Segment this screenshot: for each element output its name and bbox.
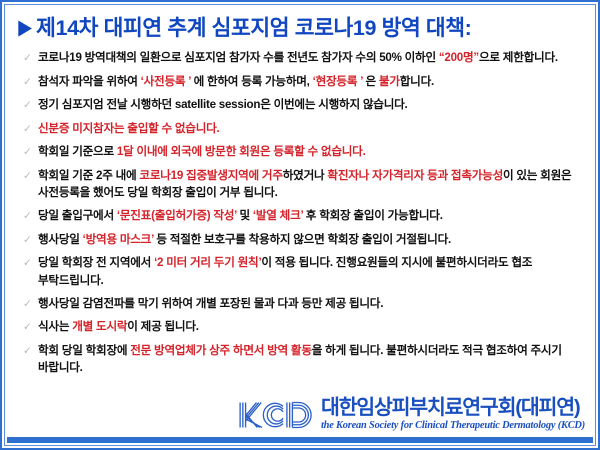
list-item-text: 행사당일 감염전파를 막기 위하여 개별 포장된 물과 다과 등만 제공 됩니다… (38, 295, 583, 313)
list-item-text: 코로나19 방역대책의 일환으로 심포지엄 참가자 수를 전년도 참가자 수의 … (38, 49, 583, 67)
body-text: 및 (237, 209, 253, 222)
check-bullet-icon: ✓ (23, 295, 38, 313)
list-item: ✓식사는 개별 도시락이 제공 됩니다. (23, 318, 583, 336)
body-text: 학회일 기준으로 (38, 145, 117, 158)
body-text: 하였거나 (283, 169, 328, 182)
list-item-text: 당일 학회장 전 지역에서 ‘2 미터 거리 두기 원칙’이 적용 됩니다. 진… (38, 254, 583, 289)
highlighted-text: ‘문진표(출입허가증) 작성’ (117, 209, 237, 222)
check-bullet-icon: ✓ (23, 96, 38, 114)
highlighted-text: 코로나19 집중발생지역에 거주 (139, 169, 282, 182)
list-item-text: 행사당일 ‘방역용 마스크’ 등 적절한 보호구를 착용하지 않으면 학회장 출… (38, 231, 583, 249)
covid-measures-list: ✓코로나19 방역대책의 일환으로 심포지엄 참가자 수를 전년도 참가자 수의… (13, 49, 587, 377)
list-item-text: 신분증 미지참자는 출입할 수 없습니다. (38, 120, 583, 138)
highlighted-text: “200명” (439, 51, 479, 64)
highlighted-text: 전문 방역업체가 상주 하면서 방역 활동 (130, 344, 312, 357)
body-text: 학회일 기준 2주 내에 (38, 169, 139, 182)
highlighted-text: 불가 (379, 75, 400, 88)
highlighted-text: 1달 이내에 외국에 방문한 회원은 등록할 수 없습니다. (117, 145, 366, 158)
body-text: 당일 출입구에서 (38, 209, 117, 222)
body-text: 은 (363, 75, 379, 88)
body-text: 후 학회장 출입이 가능합니다. (303, 209, 443, 222)
highlighted-text: ‘사전등록 ’ (141, 75, 191, 88)
kcd-logo-icon (237, 400, 315, 430)
check-bullet-icon: ✓ (23, 73, 38, 91)
triangle-bullet-icon: ▶ (18, 15, 32, 41)
body-text: 식사는 (38, 320, 72, 333)
slide-title: ▶ 제14차 대피연 추계 심포지엄 코로나19 방역 대책: (13, 11, 587, 43)
check-bullet-icon: ✓ (23, 120, 38, 138)
slide-content-area: ▶ 제14차 대피연 추계 심포지엄 코로나19 방역 대책: ✓코로나19 방… (4, 4, 596, 446)
list-item: ✓학회일 기준 2주 내에 코로나19 집중발생지역에 거주하였거나 확진자나 … (23, 167, 583, 202)
body-text: 당일 학회장 전 지역에서 (38, 256, 154, 269)
body-text: 에 한하여 등록 가능하며, (191, 75, 313, 88)
highlighted-text: ‘2 미터 거리 두기 원칙’ (154, 256, 261, 269)
frame-bottom-bar (7, 437, 593, 443)
body-text: 행사당일 감염전파를 막기 위하여 개별 포장된 물과 다과 등만 제공 됩니다… (38, 297, 383, 310)
body-text: 이 제공 됩니다. (127, 320, 198, 333)
check-bullet-icon: ✓ (23, 207, 38, 225)
slide-frame: ▶ 제14차 대피연 추계 심포지엄 코로나19 방역 대책: ✓코로나19 방… (0, 0, 600, 450)
check-bullet-icon: ✓ (23, 318, 38, 336)
list-item-text: 당일 출입구에서 ‘문진표(출입허가증) 작성’ 및 ‘발열 체크’ 후 학회장… (38, 207, 583, 225)
check-bullet-icon: ✓ (23, 342, 38, 360)
list-item-text: 학회일 기준 2주 내에 코로나19 집중발생지역에 거주하였거나 확진자나 자… (38, 167, 583, 202)
highlighted-text: ‘현장등록 ’ (313, 75, 363, 88)
body-text: 등 적절한 보호구를 착용하지 않으면 학회장 출입이 거절됩니다. (154, 233, 451, 246)
society-name-english: the Korean Society for Clinical Therapeu… (321, 421, 585, 431)
list-item: ✓당일 학회장 전 지역에서 ‘2 미터 거리 두기 원칙’이 적용 됩니다. … (23, 254, 583, 289)
body-text: 행사당일 (38, 233, 83, 246)
highlighted-text: 신분증 미지참자는 출입할 수 없습니다. (38, 122, 220, 135)
list-item: ✓당일 출입구에서 ‘문진표(출입허가증) 작성’ 및 ‘발열 체크’ 후 학회… (23, 207, 583, 225)
slide-title-text: 제14차 대피연 추계 심포지엄 코로나19 방역 대책: (36, 15, 471, 41)
body-text: 합니다. (400, 75, 434, 88)
society-logo-lockup: 대한임상피부치료연구회(대피연) the Korean Society for … (237, 398, 585, 431)
highlighted-text: ‘발열 체크’ (253, 209, 303, 222)
list-item-text: 정기 심포지엄 전날 시행하던 satellite session은 이번에는 … (38, 96, 583, 114)
society-name-block: 대한임상피부치료연구회(대피연) the Korean Society for … (321, 398, 585, 431)
check-bullet-icon: ✓ (23, 49, 38, 67)
list-item: ✓코로나19 방역대책의 일환으로 심포지엄 참가자 수를 전년도 참가자 수의… (23, 49, 583, 67)
body-text: 코로나19 방역대책의 일환으로 심포지엄 참가자 수를 전년도 참가자 수의 … (38, 51, 439, 64)
body-text: 정기 심포지엄 전날 시행하던 satellite session은 이번에는 … (38, 98, 408, 111)
list-item-text: 학회일 기준으로 1달 이내에 외국에 방문한 회원은 등록할 수 없습니다. (38, 143, 583, 161)
list-item: ✓행사당일 ‘방역용 마스크’ 등 적절한 보호구를 착용하지 않으면 학회장 … (23, 231, 583, 249)
highlighted-text: 개별 도시락 (72, 320, 127, 333)
check-bullet-icon: ✓ (23, 254, 38, 272)
society-name-korean: 대한임상피부치료연구회(대피연) (321, 398, 580, 419)
list-item: ✓신분증 미지참자는 출입할 수 없습니다. (23, 120, 583, 138)
list-item: ✓참석자 파악을 위하여 ‘사전등록 ’ 에 한하여 등록 가능하며, ‘현장등… (23, 73, 583, 91)
body-text: 학회 당일 학회장에 (38, 344, 130, 357)
list-item: ✓학회일 기준으로 1달 이내에 외국에 방문한 회원은 등록할 수 없습니다. (23, 143, 583, 161)
check-bullet-icon: ✓ (23, 167, 38, 185)
list-item: ✓학회 당일 학회장에 전문 방역업체가 상주 하면서 방역 활동을 하게 됩니… (23, 342, 583, 377)
list-item-text: 식사는 개별 도시락이 제공 됩니다. (38, 318, 583, 336)
check-bullet-icon: ✓ (23, 231, 38, 249)
body-text: 으로 제한합니다. (479, 51, 558, 64)
highlighted-text: ‘방역용 마스크’ (83, 233, 154, 246)
list-item-text: 학회 당일 학회장에 전문 방역업체가 상주 하면서 방역 활동을 하게 됩니다… (38, 342, 583, 377)
highlighted-text: 확진자나 자가격리자 등과 접촉가능성 (327, 169, 503, 182)
list-item-text: 참석자 파악을 위하여 ‘사전등록 ’ 에 한하여 등록 가능하며, ‘현장등록… (38, 73, 583, 91)
list-item: ✓행사당일 감염전파를 막기 위하여 개별 포장된 물과 다과 등만 제공 됩니… (23, 295, 583, 313)
check-bullet-icon: ✓ (23, 143, 38, 161)
body-text: 참석자 파악을 위하여 (38, 75, 141, 88)
list-item: ✓정기 심포지엄 전날 시행하던 satellite session은 이번에는… (23, 96, 583, 114)
